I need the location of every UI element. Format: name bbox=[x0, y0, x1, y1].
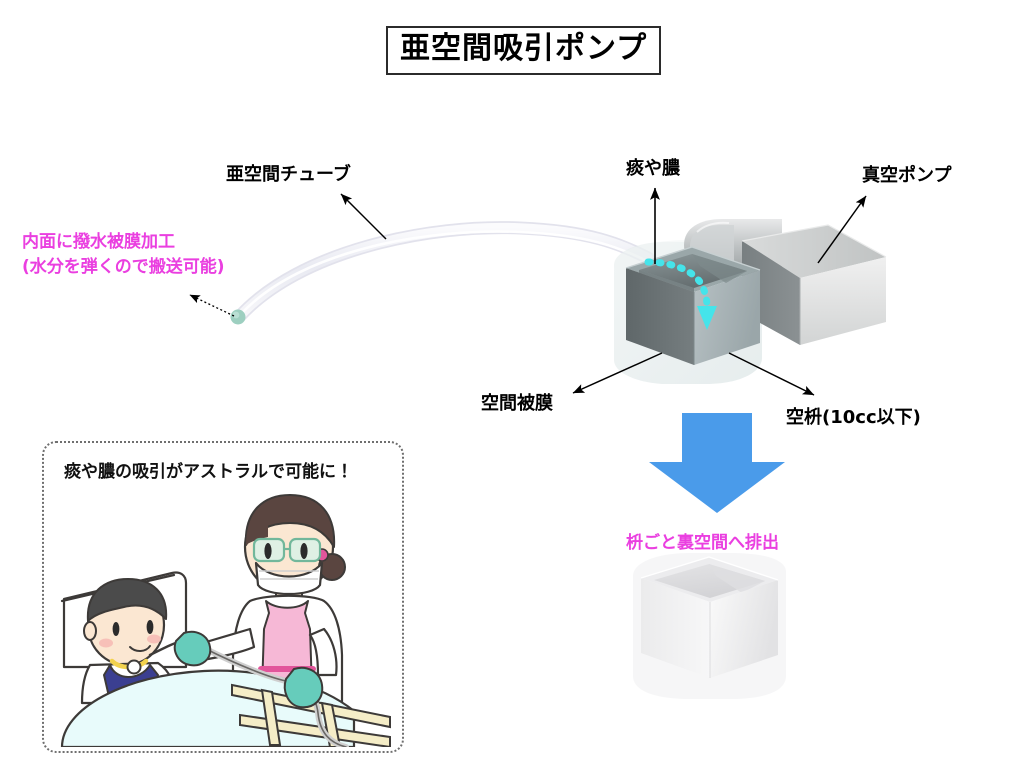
label-sputum-and-pus: 痰や膿 bbox=[626, 157, 680, 180]
connection-duct bbox=[684, 219, 782, 268]
tube-tip bbox=[231, 310, 246, 325]
blue-down-arrow bbox=[649, 413, 785, 513]
coating-note-line-2: (水分を弾くので搬送可能) bbox=[22, 255, 225, 280]
inset-caption: 痰や膿の吸引がアストラルで可能に！ bbox=[64, 457, 353, 482]
note-water-repellent-coating: 内面に撥水被膜加工 (水分を弾くので搬送可能) bbox=[22, 230, 225, 279]
leader-arrow-tube bbox=[341, 194, 386, 239]
discharged-empty-box bbox=[633, 553, 786, 699]
leader-arrow-membrane bbox=[573, 353, 662, 393]
leader-arrow-masu bbox=[729, 353, 814, 395]
nurse-suctioning-patient-illustration bbox=[54, 489, 394, 747]
leader-arrow-coating-note bbox=[190, 295, 234, 316]
label-empty-masu: 空枡(10cc以下) bbox=[786, 406, 921, 429]
diagram-canvas: 亜空間吸引ポンプ bbox=[0, 0, 1024, 768]
note-discharge-to-back-space: 枡ごと裏空間へ排出 bbox=[626, 531, 779, 556]
label-subspace-tube: 亜空間チューブ bbox=[226, 163, 351, 186]
leader-arrow-vacuum-pump bbox=[818, 196, 866, 263]
subspace-tube bbox=[231, 228, 649, 325]
vacuum-pump-unit bbox=[742, 225, 886, 345]
label-space-membrane: 空間被膜 bbox=[481, 392, 553, 415]
space-membrane bbox=[614, 240, 762, 384]
cyan-dotted-flow-arrow bbox=[648, 262, 717, 330]
coating-note-line-1: 内面に撥水被膜加工 bbox=[22, 230, 225, 255]
inset-illustration-panel: 痰や膿の吸引がアストラルで可能に！ bbox=[42, 441, 404, 753]
collection-box bbox=[626, 247, 760, 365]
label-vacuum-pump: 真空ポンプ bbox=[862, 164, 951, 187]
page-title: 亜空間吸引ポンプ bbox=[386, 26, 661, 75]
